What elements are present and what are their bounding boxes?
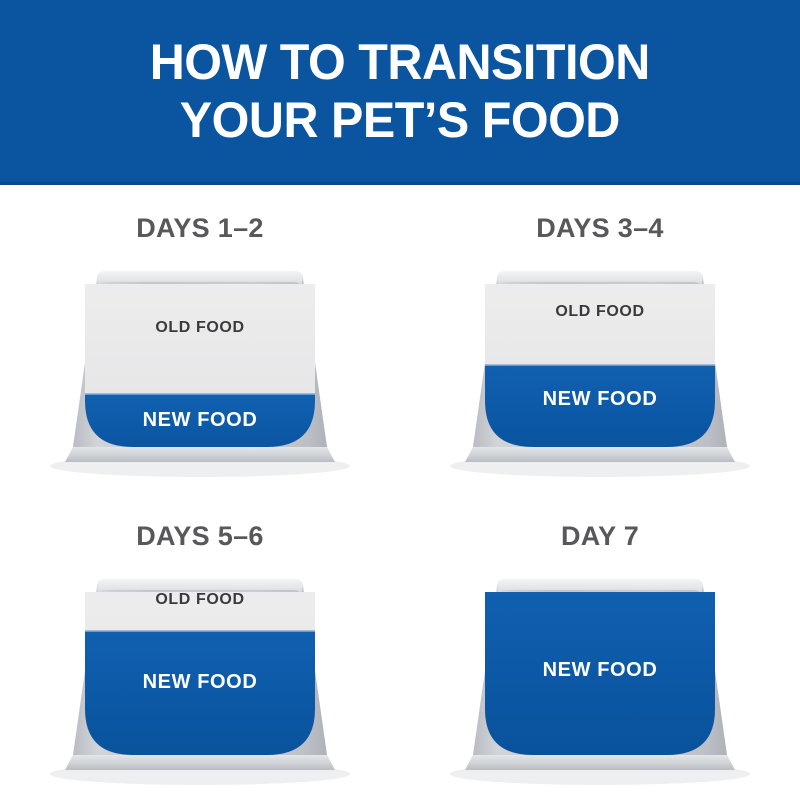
step-panel-days-3-4: DAYS 3–4	[400, 185, 800, 493]
page-title-line-2: YOUR PET’S FOOD	[180, 91, 620, 149]
bowl-base-edge	[465, 462, 735, 465]
bowl-svg-4	[435, 559, 765, 799]
bowl-illustration-days-3-4: OLD FOOD NEW FOOD	[435, 251, 765, 491]
step-title-days-5-6: DAYS 5–6	[136, 521, 264, 551]
bowl-base-edge	[465, 770, 735, 773]
bowl-svg-3	[35, 559, 365, 799]
bowl-illustration-days-5-6: OLD FOOD NEW FOOD	[35, 559, 365, 799]
bowl-base-plate	[465, 755, 735, 770]
bowl-illustration-day-7: NEW FOOD	[435, 559, 765, 799]
step-title-days-1-2: DAYS 1–2	[136, 213, 264, 243]
bowl-base-plate	[65, 447, 335, 462]
step-panel-day-7: DAY 7	[400, 493, 800, 800]
bowl-base-plate	[465, 447, 735, 462]
infographic-root: HOW TO TRANSITION YOUR PET’S FOOD DAYS 1…	[0, 0, 800, 800]
step-panel-days-5-6: DAYS 5–6	[0, 493, 400, 800]
page-title-line-1: HOW TO TRANSITION	[150, 33, 650, 91]
step-panel-days-1-2: DAYS 1–2	[0, 185, 400, 493]
transition-steps-grid: DAYS 1–2	[0, 185, 800, 800]
bowl-svg-2	[435, 251, 765, 491]
food-divider-line	[475, 364, 725, 366]
food-divider-line	[75, 393, 325, 395]
bowl-svg-1	[35, 251, 365, 491]
bowl-base-plate	[65, 755, 335, 770]
bowl-illustration-days-1-2: OLD FOOD NEW FOOD	[35, 251, 365, 491]
bowl-base-edge	[65, 770, 335, 773]
step-title-day-7: DAY 7	[561, 521, 639, 551]
food-divider-line	[75, 630, 325, 632]
step-title-days-3-4: DAYS 3–4	[536, 213, 664, 243]
bowl-base-edge	[65, 462, 335, 465]
page-header: HOW TO TRANSITION YOUR PET’S FOOD	[0, 0, 800, 185]
